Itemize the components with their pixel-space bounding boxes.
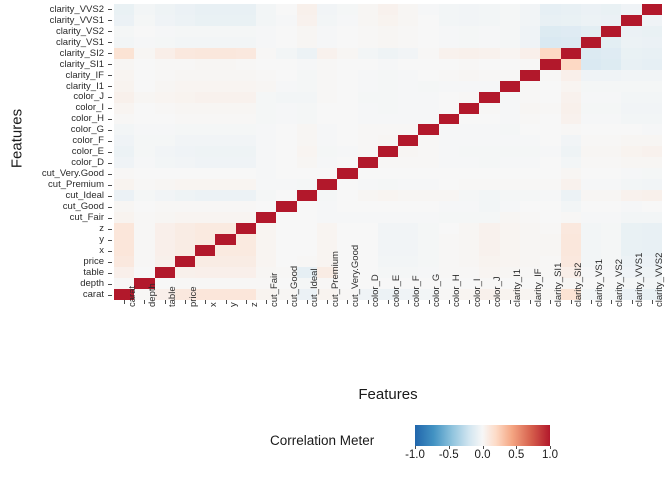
heatmap-cell <box>642 4 662 15</box>
heatmap-cell <box>581 59 601 70</box>
heatmap-cell <box>439 245 459 256</box>
heatmap-cell <box>378 256 398 267</box>
heatmap-cell <box>601 157 621 168</box>
heatmap-cell <box>601 26 621 37</box>
heatmap-cell <box>236 15 256 26</box>
x-axis-tick-mark <box>632 300 633 304</box>
y-axis-tick-mark <box>108 262 112 263</box>
heatmap-cell <box>175 37 195 48</box>
heatmap-cell <box>114 223 134 234</box>
heatmap-cell <box>297 124 317 135</box>
heatmap-cell <box>642 48 662 59</box>
heatmap-cell <box>642 212 662 223</box>
heatmap-cell <box>581 114 601 125</box>
heatmap-cell <box>398 103 418 114</box>
heatmap-cell <box>256 157 276 168</box>
heatmap-cell <box>297 234 317 245</box>
heatmap-cell <box>621 26 641 37</box>
heatmap-cell <box>134 201 154 212</box>
x-axis-tick-label: depth <box>148 283 158 307</box>
heatmap-cell <box>561 212 581 223</box>
heatmap-cell <box>276 212 296 223</box>
heatmap-cell <box>601 190 621 201</box>
heatmap-cell <box>520 179 540 190</box>
x-axis-tick-mark <box>550 300 551 304</box>
heatmap-cell <box>134 256 154 267</box>
heatmap-cell <box>337 190 357 201</box>
x-axis-tick-mark <box>652 300 653 304</box>
heatmap-cell <box>479 190 499 201</box>
heatmap-cell <box>195 26 215 37</box>
heatmap-cell <box>155 245 175 256</box>
heatmap-cell <box>520 70 540 81</box>
heatmap-cell <box>439 70 459 81</box>
heatmap-cell <box>358 48 378 59</box>
heatmap-cell <box>621 234 641 245</box>
heatmap-cell <box>561 4 581 15</box>
heatmap-cell <box>621 135 641 146</box>
heatmap-cell <box>276 59 296 70</box>
heatmap-cell <box>479 4 499 15</box>
heatmap-cell <box>398 59 418 70</box>
y-axis-tick-mark <box>108 273 112 274</box>
heatmap-cell <box>175 157 195 168</box>
heatmap-cell <box>297 168 317 179</box>
heatmap-cell <box>155 267 175 278</box>
heatmap-cell <box>276 4 296 15</box>
heatmap-cell <box>236 278 256 289</box>
heatmap-cell <box>561 135 581 146</box>
heatmap-cell <box>276 103 296 114</box>
heatmap-cell <box>317 190 337 201</box>
heatmap-cell <box>256 223 276 234</box>
heatmap-cell <box>337 70 357 81</box>
heatmap-cell <box>215 256 235 267</box>
heatmap-cell <box>439 212 459 223</box>
heatmap-cell <box>215 81 235 92</box>
heatmap-cell <box>520 92 540 103</box>
heatmap-cell <box>236 157 256 168</box>
x-axis-tick-label: cut_Ideal <box>310 268 320 307</box>
heatmap-cell <box>317 81 337 92</box>
heatmap-cell <box>134 135 154 146</box>
heatmap-cell <box>500 135 520 146</box>
heatmap-cell <box>398 179 418 190</box>
heatmap-cell <box>256 92 276 103</box>
heatmap-row <box>114 157 662 168</box>
heatmap-cell <box>317 114 337 125</box>
heatmap-cell <box>215 212 235 223</box>
heatmap-cell <box>276 114 296 125</box>
heatmap-cell <box>195 256 215 267</box>
heatmap-cell <box>175 114 195 125</box>
y-axis-tick-label: clarity_SI1 <box>0 59 104 70</box>
heatmap-cell <box>378 15 398 26</box>
heatmap-cell <box>520 212 540 223</box>
heatmap-cell <box>317 4 337 15</box>
x-axis-tick-mark <box>429 300 430 304</box>
heatmap-cell <box>439 59 459 70</box>
heatmap-cell <box>459 256 479 267</box>
heatmap-cell <box>540 92 560 103</box>
heatmap-cell <box>561 48 581 59</box>
x-axis-tick-mark <box>205 300 206 304</box>
heatmap-cell <box>378 4 398 15</box>
heatmap-cell <box>337 124 357 135</box>
heatmap-cell <box>337 114 357 125</box>
heatmap-cell <box>337 4 357 15</box>
heatmap-cell <box>276 157 296 168</box>
heatmap-cell <box>317 15 337 26</box>
heatmap-cell <box>581 48 601 59</box>
heatmap-cell <box>439 234 459 245</box>
heatmap-cell <box>601 81 621 92</box>
heatmap-cell <box>378 114 398 125</box>
heatmap-cell <box>601 103 621 114</box>
heatmap-cell <box>642 146 662 157</box>
heatmap-cell <box>459 92 479 103</box>
heatmap-cell <box>297 81 317 92</box>
y-axis-tick-mark <box>108 196 112 197</box>
heatmap-cell <box>540 48 560 59</box>
heatmap-cell <box>276 234 296 245</box>
heatmap-cell <box>459 223 479 234</box>
heatmap-cell <box>500 92 520 103</box>
heatmap-cell <box>358 223 378 234</box>
legend-tick-label: -1.0 <box>405 449 425 461</box>
heatmap-cell <box>561 201 581 212</box>
heatmap-cell <box>581 37 601 48</box>
x-axis-tick-label: clarity_VS2 <box>615 259 625 307</box>
y-axis-tick-mark <box>108 108 112 109</box>
heatmap-cell <box>358 190 378 201</box>
heatmap-cell <box>500 168 520 179</box>
heatmap-cell <box>236 289 256 300</box>
heatmap-cell <box>358 26 378 37</box>
heatmap-cell <box>398 48 418 59</box>
heatmap-cell <box>276 81 296 92</box>
heatmap-cell <box>256 37 276 48</box>
heatmap-cell <box>621 81 641 92</box>
heatmap-cell <box>378 70 398 81</box>
heatmap-cell <box>520 59 540 70</box>
heatmap-cell <box>621 223 641 234</box>
heatmap-cell <box>256 135 276 146</box>
heatmap-cell <box>601 114 621 125</box>
heatmap-cell <box>297 245 317 256</box>
x-axis-tick-mark <box>510 300 511 304</box>
heatmap-cell <box>337 223 357 234</box>
heatmap-cell <box>520 81 540 92</box>
heatmap-cell <box>398 15 418 26</box>
y-axis-tick-label: y <box>0 234 104 245</box>
heatmap-cell <box>358 179 378 190</box>
y-axis-tick-label: depth <box>0 278 104 289</box>
heatmap-cell <box>479 256 499 267</box>
heatmap-cell <box>459 81 479 92</box>
heatmap-cell <box>642 15 662 26</box>
heatmap-cell <box>540 190 560 201</box>
heatmap-row <box>114 103 662 114</box>
y-axis-tick-mark <box>108 119 112 120</box>
x-axis-tick-mark <box>226 300 227 304</box>
heatmap-cell <box>215 168 235 179</box>
heatmap-cell <box>540 103 560 114</box>
heatmap-cell <box>479 37 499 48</box>
heatmap-cell <box>581 168 601 179</box>
legend-gradient-bar <box>415 425 550 446</box>
heatmap-cell <box>418 81 438 92</box>
y-axis-tick-mark <box>108 75 112 76</box>
heatmap-cell <box>418 26 438 37</box>
heatmap-cell <box>317 157 337 168</box>
heatmap-cell <box>297 179 317 190</box>
heatmap-cell <box>479 59 499 70</box>
heatmap-cell <box>418 124 438 135</box>
y-axis-tick-labels: clarity_VVS2clarity_VVS1clarity_VS2clari… <box>0 4 104 300</box>
heatmap-cell <box>155 223 175 234</box>
heatmap-cell <box>358 70 378 81</box>
heatmap-cell <box>520 223 540 234</box>
heatmap-cell <box>459 37 479 48</box>
heatmap-cell <box>500 179 520 190</box>
heatmap-cell <box>398 124 418 135</box>
heatmap-cell <box>459 135 479 146</box>
heatmap-cell <box>134 179 154 190</box>
heatmap-cell <box>479 201 499 212</box>
heatmap-cell <box>500 124 520 135</box>
heatmap-cell <box>398 245 418 256</box>
heatmap-cell <box>418 157 438 168</box>
heatmap-cell <box>520 114 540 125</box>
heatmap-cell <box>540 146 560 157</box>
heatmap-cell <box>621 15 641 26</box>
heatmap-cell <box>581 245 601 256</box>
heatmap-cell <box>378 146 398 157</box>
heatmap-cell <box>256 114 276 125</box>
heatmap-cell <box>337 81 357 92</box>
y-axis-tick-label: clarity_VS1 <box>0 37 104 48</box>
heatmap-cell <box>134 81 154 92</box>
heatmap-cell <box>114 146 134 157</box>
heatmap-cell <box>621 168 641 179</box>
heatmap-cell <box>175 256 195 267</box>
heatmap-cell <box>215 190 235 201</box>
heatmap-cell <box>155 234 175 245</box>
heatmap-cell <box>601 37 621 48</box>
heatmap-cell <box>459 114 479 125</box>
heatmap-cell <box>601 245 621 256</box>
x-axis-tick-label: color_D <box>371 274 381 307</box>
heatmap-cell <box>418 245 438 256</box>
heatmap-cell <box>276 70 296 81</box>
heatmap-cell <box>256 245 276 256</box>
heatmap-cell <box>500 81 520 92</box>
heatmap-cell <box>317 223 337 234</box>
heatmap-cell <box>459 15 479 26</box>
heatmap-cell <box>155 135 175 146</box>
heatmap-cell <box>561 157 581 168</box>
heatmap-cell <box>398 4 418 15</box>
y-axis-tick-mark <box>108 240 112 241</box>
heatmap-cell <box>114 4 134 15</box>
y-axis-tick-label: cut_Very.Good <box>0 168 104 179</box>
heatmap-cell <box>114 59 134 70</box>
heatmap-cell <box>398 26 418 37</box>
heatmap-cell <box>175 81 195 92</box>
heatmap-cell <box>398 70 418 81</box>
heatmap-cell <box>621 124 641 135</box>
heatmap-cell <box>561 15 581 26</box>
heatmap-cell <box>459 212 479 223</box>
heatmap-cell <box>114 48 134 59</box>
heatmap-cell <box>418 179 438 190</box>
heatmap-cell <box>236 81 256 92</box>
heatmap-cell <box>195 201 215 212</box>
heatmap-cell <box>439 146 459 157</box>
heatmap-cell <box>175 26 195 37</box>
heatmap-cell <box>418 190 438 201</box>
heatmap-row <box>114 15 662 26</box>
heatmap-cell <box>439 26 459 37</box>
heatmap-cell <box>358 92 378 103</box>
heatmap-cell <box>236 223 256 234</box>
x-axis-tick-label: color_F <box>412 275 422 307</box>
heatmap-cell <box>601 168 621 179</box>
heatmap-cell <box>621 146 641 157</box>
heatmap-cell <box>439 223 459 234</box>
y-axis-tick-label: clarity_IF <box>0 70 104 81</box>
heatmap-cell <box>459 4 479 15</box>
heatmap-cell <box>236 201 256 212</box>
heatmap-cell <box>114 114 134 125</box>
heatmap-cell <box>337 168 357 179</box>
heatmap-cell <box>540 179 560 190</box>
heatmap-cell <box>540 15 560 26</box>
heatmap-cell <box>155 26 175 37</box>
y-axis-tick-mark <box>108 86 112 87</box>
heatmap-cell <box>195 48 215 59</box>
heatmap-cell <box>256 234 276 245</box>
heatmap-cell <box>500 103 520 114</box>
heatmap-cell <box>378 179 398 190</box>
y-axis-tick-label: carat <box>0 289 104 300</box>
heatmap-cell <box>581 103 601 114</box>
heatmap-cell <box>236 168 256 179</box>
heatmap-cell <box>540 245 560 256</box>
y-axis-tick-label: color_F <box>0 135 104 146</box>
y-axis-tick-label: color_E <box>0 146 104 157</box>
x-axis-tick-mark <box>571 300 572 304</box>
heatmap-cell <box>256 190 276 201</box>
heatmap-cell <box>418 37 438 48</box>
y-axis-tick-label: x <box>0 245 104 256</box>
heatmap-cell <box>642 201 662 212</box>
heatmap-cell <box>276 48 296 59</box>
heatmap-cell <box>155 157 175 168</box>
heatmap-cell <box>398 146 418 157</box>
heatmap-row <box>114 146 662 157</box>
heatmap-cell <box>621 114 641 125</box>
heatmap-cell <box>114 212 134 223</box>
x-axis-tick-label: clarity_IF <box>534 268 544 307</box>
heatmap-cell <box>134 48 154 59</box>
heatmap-cell <box>155 114 175 125</box>
heatmap-cell <box>418 70 438 81</box>
heatmap-cell <box>215 278 235 289</box>
heatmap-cell <box>540 135 560 146</box>
heatmap-cell <box>561 103 581 114</box>
heatmap-cell <box>358 4 378 15</box>
heatmap-cell <box>418 48 438 59</box>
heatmap-cell <box>236 70 256 81</box>
heatmap-cell <box>378 223 398 234</box>
heatmap-cell <box>378 168 398 179</box>
heatmap-cell <box>155 15 175 26</box>
heatmap-cell <box>561 59 581 70</box>
heatmap-cell <box>195 190 215 201</box>
heatmap-cell <box>439 256 459 267</box>
heatmap-cell <box>621 59 641 70</box>
heatmap-cell <box>459 267 479 278</box>
heatmap-cell <box>418 201 438 212</box>
heatmap-cell <box>337 135 357 146</box>
heatmap-cell <box>337 59 357 70</box>
heatmap-cell <box>601 223 621 234</box>
heatmap-cell <box>195 4 215 15</box>
heatmap-cell <box>540 81 560 92</box>
heatmap-cell <box>236 92 256 103</box>
x-axis-tick-label: cut_Good <box>290 266 300 307</box>
y-axis-tick-label: table <box>0 267 104 278</box>
heatmap-cell <box>601 70 621 81</box>
heatmap-cell <box>215 201 235 212</box>
heatmap-cell <box>621 70 641 81</box>
heatmap-cell <box>134 267 154 278</box>
heatmap-cell <box>155 48 175 59</box>
y-axis-tick-mark <box>108 295 112 296</box>
heatmap-cell <box>215 267 235 278</box>
heatmap-cell <box>175 245 195 256</box>
y-axis-tick-label: z <box>0 223 104 234</box>
heatmap-cell <box>642 179 662 190</box>
heatmap-cell <box>581 70 601 81</box>
heatmap-cell <box>439 48 459 59</box>
y-axis-tick-label: color_D <box>0 157 104 168</box>
heatmap-cell <box>337 157 357 168</box>
heatmap-cell <box>581 201 601 212</box>
heatmap-cell <box>256 124 276 135</box>
y-axis-tick-mark <box>108 163 112 164</box>
y-axis-tick-label: clarity_I1 <box>0 81 104 92</box>
heatmap-cell <box>256 70 276 81</box>
heatmap-cell <box>601 92 621 103</box>
heatmap-cell <box>195 168 215 179</box>
heatmap-cell <box>297 48 317 59</box>
heatmap-cell <box>114 256 134 267</box>
legend-colorbar: Correlation Meter -1.0-0.50.00.51.0 <box>270 425 600 473</box>
heatmap-cell <box>134 4 154 15</box>
heatmap-cell <box>317 124 337 135</box>
y-axis-tick-label: price <box>0 256 104 267</box>
heatmap-cell <box>155 70 175 81</box>
heatmap-cell <box>561 70 581 81</box>
y-axis-tick-label: cut_Ideal <box>0 190 104 201</box>
heatmap-cell <box>642 234 662 245</box>
heatmap-cell <box>195 59 215 70</box>
heatmap-cell <box>418 256 438 267</box>
heatmap-cell <box>195 15 215 26</box>
